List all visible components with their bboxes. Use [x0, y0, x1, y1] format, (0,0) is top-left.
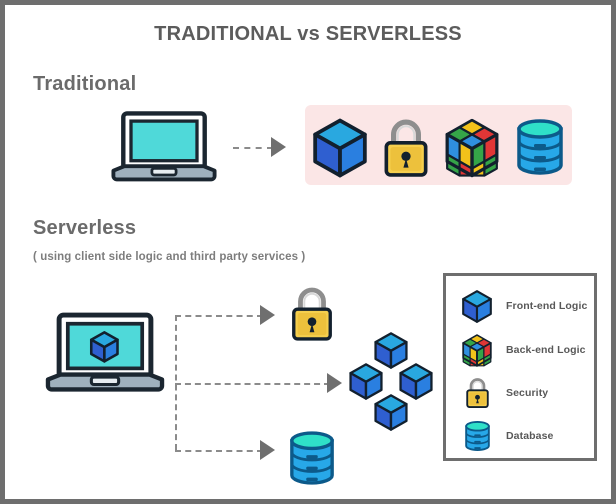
legend-label: Security — [506, 387, 548, 399]
rubiks-cube-icon — [460, 333, 494, 367]
serverless-database-icon — [288, 430, 336, 486]
legend-label: Front-end Logic — [506, 300, 587, 312]
traditional-laptop-icon — [109, 109, 219, 186]
legend-item-front-end-logic: Front-end Logic — [460, 286, 590, 326]
legend-item-back-end-logic: Back-end Logic — [460, 330, 590, 370]
cube-icon — [460, 289, 494, 323]
database-icon — [515, 118, 565, 176]
serverless-connector-branch-middle — [175, 383, 330, 385]
traditional-connector-line — [233, 147, 273, 149]
cube-icon — [313, 118, 367, 178]
serverless-arrowhead-top — [260, 305, 275, 325]
legend-panel: Front-end Logic Back-end Logic Security … — [443, 273, 597, 461]
padlock-icon — [460, 376, 494, 410]
serverless-arrowhead-bottom — [260, 440, 275, 460]
traditional-connector-arrowhead — [271, 137, 286, 157]
database-icon — [460, 419, 494, 453]
section-heading-serverless: Serverless — [33, 217, 136, 240]
serverless-arrowhead-middle — [327, 373, 342, 393]
section-subtitle-serverless: ( using client side logic and third part… — [33, 251, 305, 263]
legend-label: Back-end Logic — [506, 344, 586, 356]
serverless-padlock-icon — [288, 286, 336, 342]
legend-item-security: Security — [460, 373, 590, 413]
page-title: TRADITIONAL vs SERVERLESS — [5, 23, 611, 46]
legend-item-database: Database — [460, 416, 590, 456]
legend-label: Database — [506, 430, 554, 442]
section-heading-traditional: Traditional — [33, 73, 136, 96]
diagram-canvas: TRADITIONAL vs SERVERLESS Traditional Se… — [0, 0, 616, 504]
rubiks-cube-icon — [445, 118, 499, 178]
padlock-icon — [380, 118, 432, 178]
cube-cluster-icon — [345, 332, 437, 432]
serverless-connector-branch-top — [175, 315, 263, 317]
serverless-laptop-icon — [43, 310, 167, 397]
serverless-connector-branch-bottom — [175, 450, 263, 452]
